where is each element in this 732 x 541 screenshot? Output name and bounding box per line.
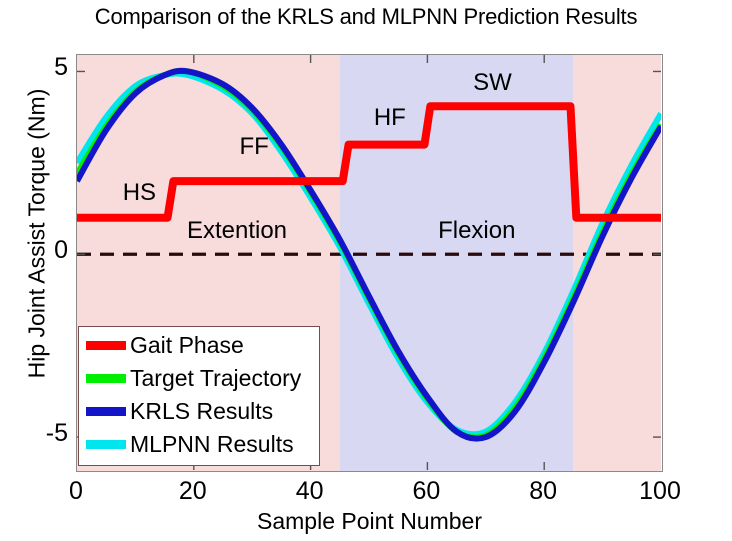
legend-swatch-gait-phase bbox=[86, 341, 126, 350]
chart-title: Comparison of the KRLS and MLPNN Predict… bbox=[0, 4, 732, 30]
legend-swatch-krls bbox=[86, 407, 126, 416]
legend-swatch-target-trajectory bbox=[86, 374, 126, 383]
y-axis-label: Hip Joint Assist Torque (Nm) bbox=[24, 34, 51, 434]
chart-figure: Comparison of the KRLS and MLPNN Predict… bbox=[0, 0, 732, 541]
x-tick-label: 40 bbox=[275, 477, 345, 506]
x-tick-label: 60 bbox=[391, 477, 461, 506]
legend-label-krls: KRLS Results bbox=[130, 400, 273, 423]
legend-item-target-trajectory[interactable]: Target Trajectory bbox=[79, 362, 319, 395]
x-tick-label: 20 bbox=[158, 477, 228, 506]
legend-label-mlpnn: MLPNN Results bbox=[130, 433, 294, 456]
series-gait-phase bbox=[77, 106, 661, 218]
x-axis-label: Sample Point Number bbox=[76, 508, 663, 535]
legend-label-gait-phase: Gait Phase bbox=[130, 334, 244, 357]
x-tick-label: 80 bbox=[508, 477, 578, 506]
legend-item-gait-phase[interactable]: Gait Phase bbox=[79, 329, 319, 362]
legend-swatch-mlpnn bbox=[86, 440, 126, 449]
legend-label-target-trajectory: Target Trajectory bbox=[130, 367, 301, 390]
legend-item-mlpnn[interactable]: MLPNN Results bbox=[79, 428, 319, 461]
legend-item-krls[interactable]: KRLS Results bbox=[79, 395, 319, 428]
x-tick-label: 100 bbox=[625, 477, 695, 506]
chart-legend: Gait Phase Target Trajectory KRLS Result… bbox=[78, 326, 320, 466]
x-tick-label: 0 bbox=[41, 477, 111, 506]
